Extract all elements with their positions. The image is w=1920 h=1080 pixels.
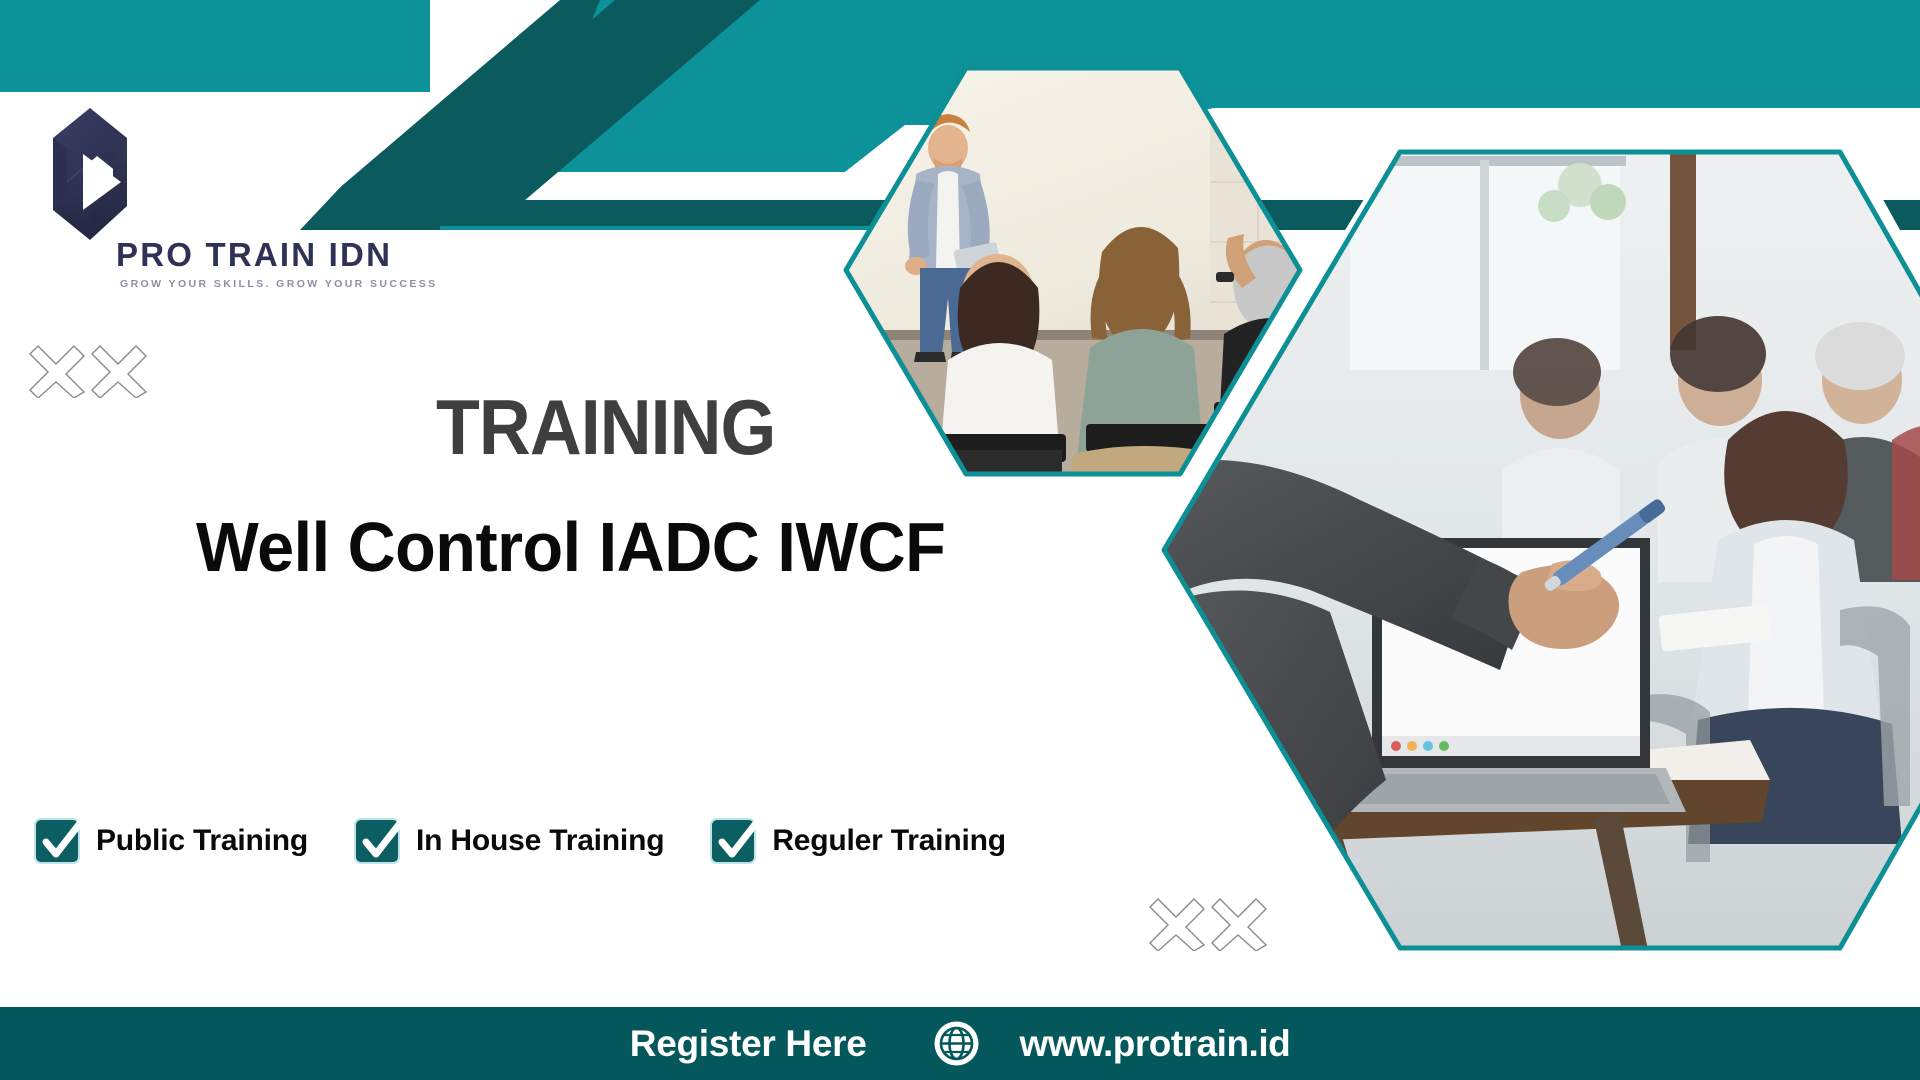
list-item[interactable]: In House Training xyxy=(354,818,664,864)
register-here-label[interactable]: Register Here xyxy=(630,1023,867,1065)
x-cross-outline-icon-group-top xyxy=(28,342,148,398)
checkbox-checked-icon[interactable] xyxy=(354,818,400,864)
footer-bar: Register Here www.protrain.id xyxy=(0,1007,1920,1080)
list-item[interactable]: Reguler Training xyxy=(710,818,1006,864)
list-item-label: Public Training xyxy=(96,824,308,858)
globe-icon xyxy=(933,1020,980,1067)
website-url[interactable]: www.protrain.id xyxy=(1020,1023,1291,1065)
eyebrow-heading: TRAINING xyxy=(436,388,775,466)
brand-logo[interactable]: PRO TRAIN IDN GROW YOUR SKILLS. GROW YOU… xyxy=(30,108,410,268)
list-item[interactable]: Public Training xyxy=(34,818,308,864)
list-item-label: In House Training xyxy=(416,824,664,858)
checkbox-checked-icon[interactable] xyxy=(34,818,80,864)
checkbox-checked-icon[interactable] xyxy=(710,818,756,864)
pro-train-arrow-logo-icon xyxy=(35,108,145,240)
brand-name: PRO TRAIN IDN xyxy=(116,236,392,274)
training-type-list: Public Training In House Training Regule… xyxy=(34,818,1006,864)
training-promo-banner: PRO TRAIN IDN GROW YOUR SKILLS. GROW YOU… xyxy=(0,0,1920,1080)
brand-tagline: GROW YOUR SKILLS. GROW YOUR SUCCESS xyxy=(120,278,438,290)
classroom-instructor-small-photo xyxy=(838,62,1318,482)
page-title: Well Control IADC IWCF xyxy=(196,512,945,582)
list-item-label: Reguler Training xyxy=(772,824,1006,858)
